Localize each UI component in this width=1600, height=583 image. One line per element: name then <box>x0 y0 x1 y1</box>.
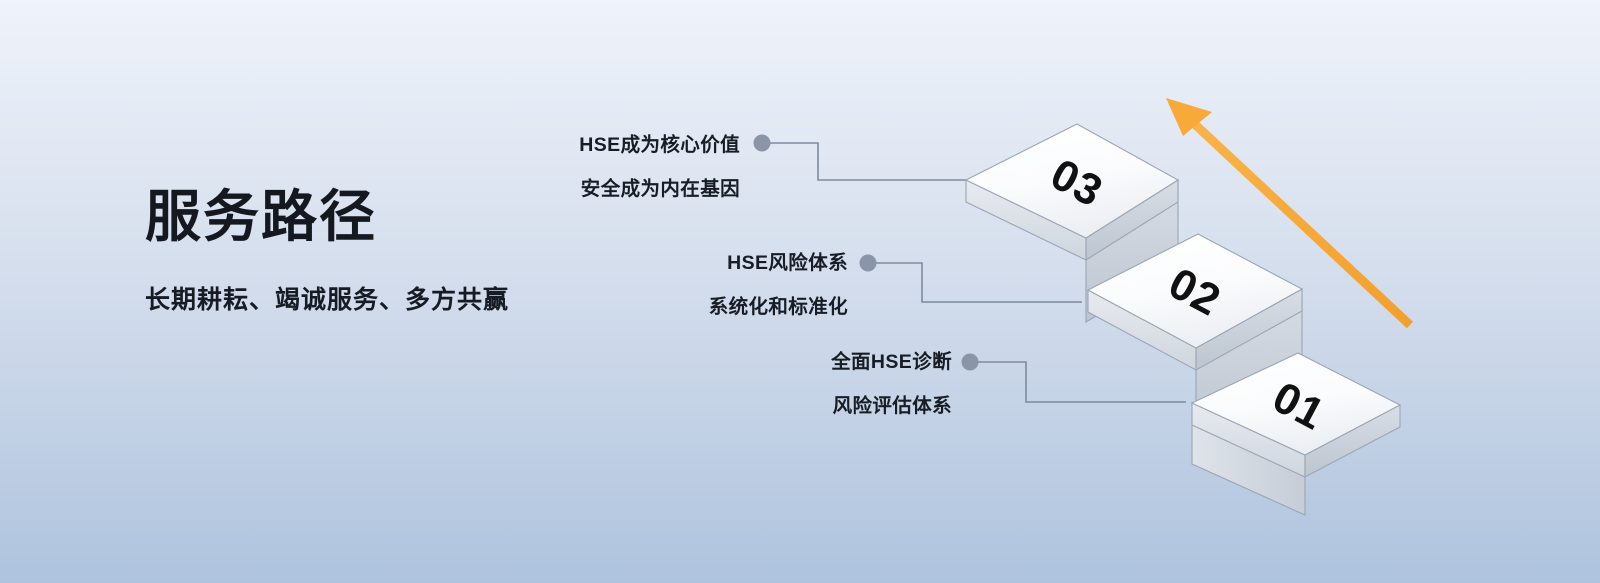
connector-03 <box>754 135 969 181</box>
connector-02 <box>860 255 1083 303</box>
slide-canvas: 服务路径 长期耕耘、竭诚服务、多方共赢 HSE成为核心价值 安全成为内在基因 H… <box>0 0 1600 583</box>
connector-03-path <box>770 143 968 180</box>
connector-03-dot <box>754 135 771 152</box>
isometric-staircase-graphic: 03 02 01 <box>0 0 1600 583</box>
connector-01-dot <box>962 354 979 371</box>
connector-01-path <box>978 362 1186 402</box>
connector-01 <box>962 354 1187 403</box>
connector-02-path <box>876 263 1082 302</box>
connector-02-dot <box>860 255 877 272</box>
